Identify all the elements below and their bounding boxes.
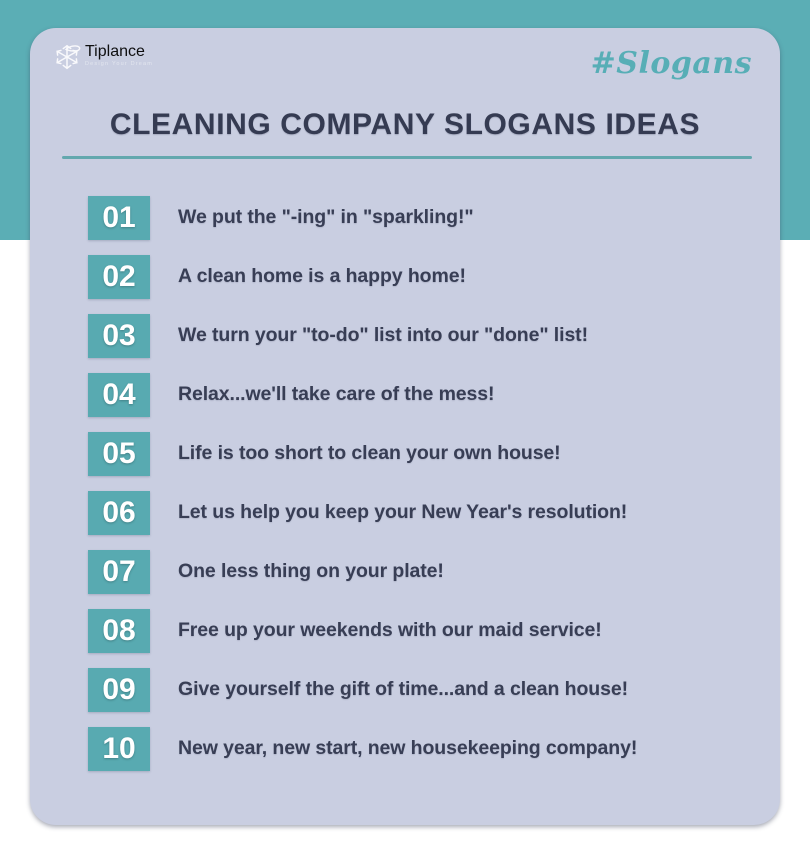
slogan-text: Relax...we'll take care of the mess!	[178, 383, 780, 406]
slogan-number-badge: 07	[88, 550, 150, 594]
slogan-text: One less thing on your plate!	[178, 560, 780, 583]
page-title: CLEANING COMPANY SLOGANS IDEAS	[30, 108, 780, 142]
slogan-text: A clean home is a happy home!	[178, 265, 780, 288]
slogan-number-badge: 02	[88, 255, 150, 299]
slogan-number-badge: 09	[88, 668, 150, 712]
slogan-text: Give yourself the gift of time...and a c…	[178, 678, 780, 701]
slogan-text: We turn your "to-do" list into our "done…	[178, 324, 780, 347]
hashtag-slogans: #Slogans	[591, 46, 752, 81]
brand-text-wrap: Tiplance Design your Dream	[85, 44, 153, 68]
list-item: 09 Give yourself the gift of time...and …	[30, 660, 780, 719]
list-item: 02 A clean home is a happy home!	[30, 247, 780, 306]
list-item: 04 Relax...we'll take care of the mess!	[30, 365, 780, 424]
slogan-text: We put the "-ing" in "sparkling!"	[178, 206, 780, 229]
brand-tagline: Design your Dream	[85, 62, 153, 68]
list-item: 03 We turn your "to-do" list into our "d…	[30, 306, 780, 365]
snowflake-logo-icon	[52, 42, 82, 72]
list-item: 08 Free up your weekends with our maid s…	[30, 601, 780, 660]
brand-name: Tiplance	[85, 44, 153, 60]
poster-card: Tiplance Design your Dream #Slogans CLEA…	[30, 28, 780, 825]
slogan-number-badge: 08	[88, 609, 150, 653]
list-item: 06 Let us help you keep your New Year's …	[30, 483, 780, 542]
slogan-number-badge: 03	[88, 314, 150, 358]
slogan-text: Let us help you keep your New Year's res…	[178, 501, 780, 524]
slogan-text: Free up your weekends with our maid serv…	[178, 619, 780, 642]
slogan-text: Life is too short to clean your own hous…	[178, 442, 780, 465]
list-item: 01 We put the "-ing" in "sparkling!"	[30, 188, 780, 247]
slogan-number-badge: 05	[88, 432, 150, 476]
card-header: Tiplance Design your Dream #Slogans	[30, 28, 780, 106]
brand-logo: Tiplance Design your Dream	[52, 40, 153, 72]
title-divider	[62, 156, 752, 159]
slogan-number-badge: 01	[88, 196, 150, 240]
list-item: 05 Life is too short to clean your own h…	[30, 424, 780, 483]
slogan-number-badge: 04	[88, 373, 150, 417]
slogan-list: 01 We put the "-ing" in "sparkling!" 02 …	[30, 188, 780, 778]
slogan-number-badge: 10	[88, 727, 150, 771]
slogan-number-badge: 06	[88, 491, 150, 535]
slogan-text: New year, new start, new housekeeping co…	[178, 737, 780, 760]
list-item: 07 One less thing on your plate!	[30, 542, 780, 601]
list-item: 10 New year, new start, new housekeeping…	[30, 719, 780, 778]
